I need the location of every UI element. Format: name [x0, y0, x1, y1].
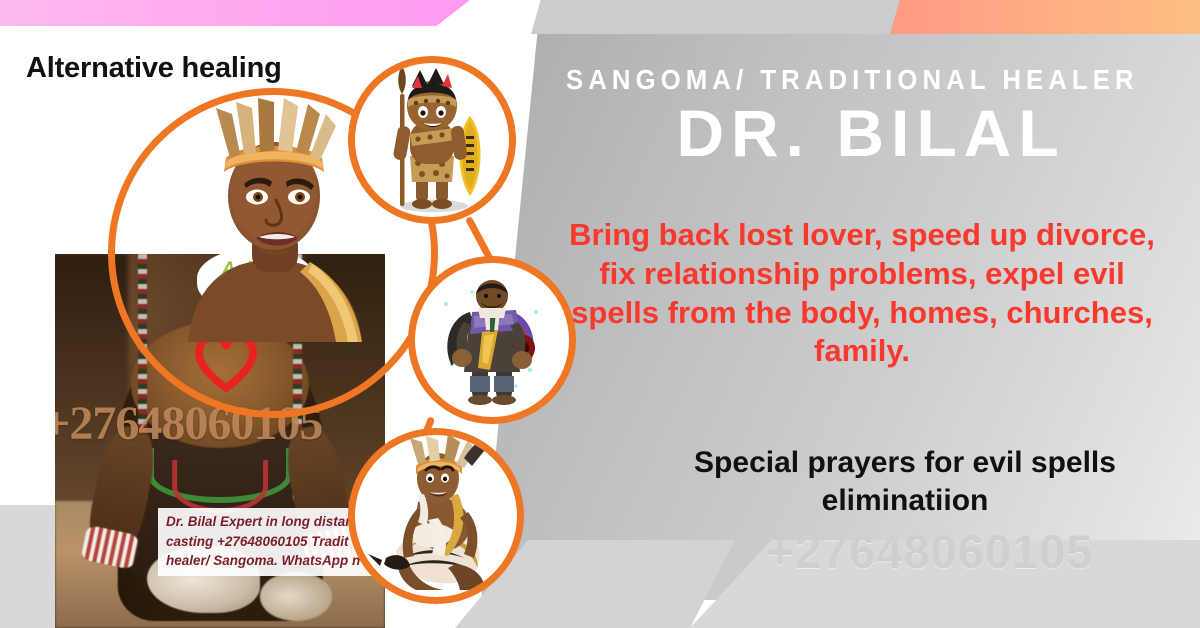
caption-line-2: casting +27648060105 Tradit	[166, 532, 381, 552]
phone-watermark: +27648060105	[660, 524, 1200, 579]
robed-healer-circle	[408, 256, 576, 424]
pink-accent-band	[0, 0, 470, 26]
orange-accent-band	[890, 0, 1200, 34]
prayers-line-1: Special prayers for evil spells	[625, 444, 1185, 482]
photo-fowl-secondary	[260, 572, 333, 621]
prayers-line-2: eliminatiion	[625, 482, 1185, 520]
kneeling-dancer-icon	[355, 435, 517, 597]
poster-canvas: Alternative healing +27648060105 Ask	[0, 0, 1200, 628]
services-pitch: Bring back lost lover, speed up divorce,…	[552, 216, 1172, 371]
kneeling-dancer-circle	[348, 428, 524, 604]
grey-footer-shape-far-left	[0, 505, 56, 628]
photo-red-necklace	[172, 460, 268, 514]
zulu-warrior-icon	[355, 63, 509, 217]
page-title: Alternative healing	[26, 52, 282, 85]
brand-name: DR. BILAL	[566, 100, 1176, 166]
caption-line-3: healer/ Sangoma. WhatsApp n	[166, 551, 381, 571]
special-prayers-text: Special prayers for evil spells eliminat…	[625, 444, 1185, 521]
robed-healer-icon	[415, 263, 569, 417]
kicker-text: SANGOMA/ TRADITIONAL HEALER	[566, 64, 1127, 96]
zulu-warrior-circle	[348, 56, 516, 224]
